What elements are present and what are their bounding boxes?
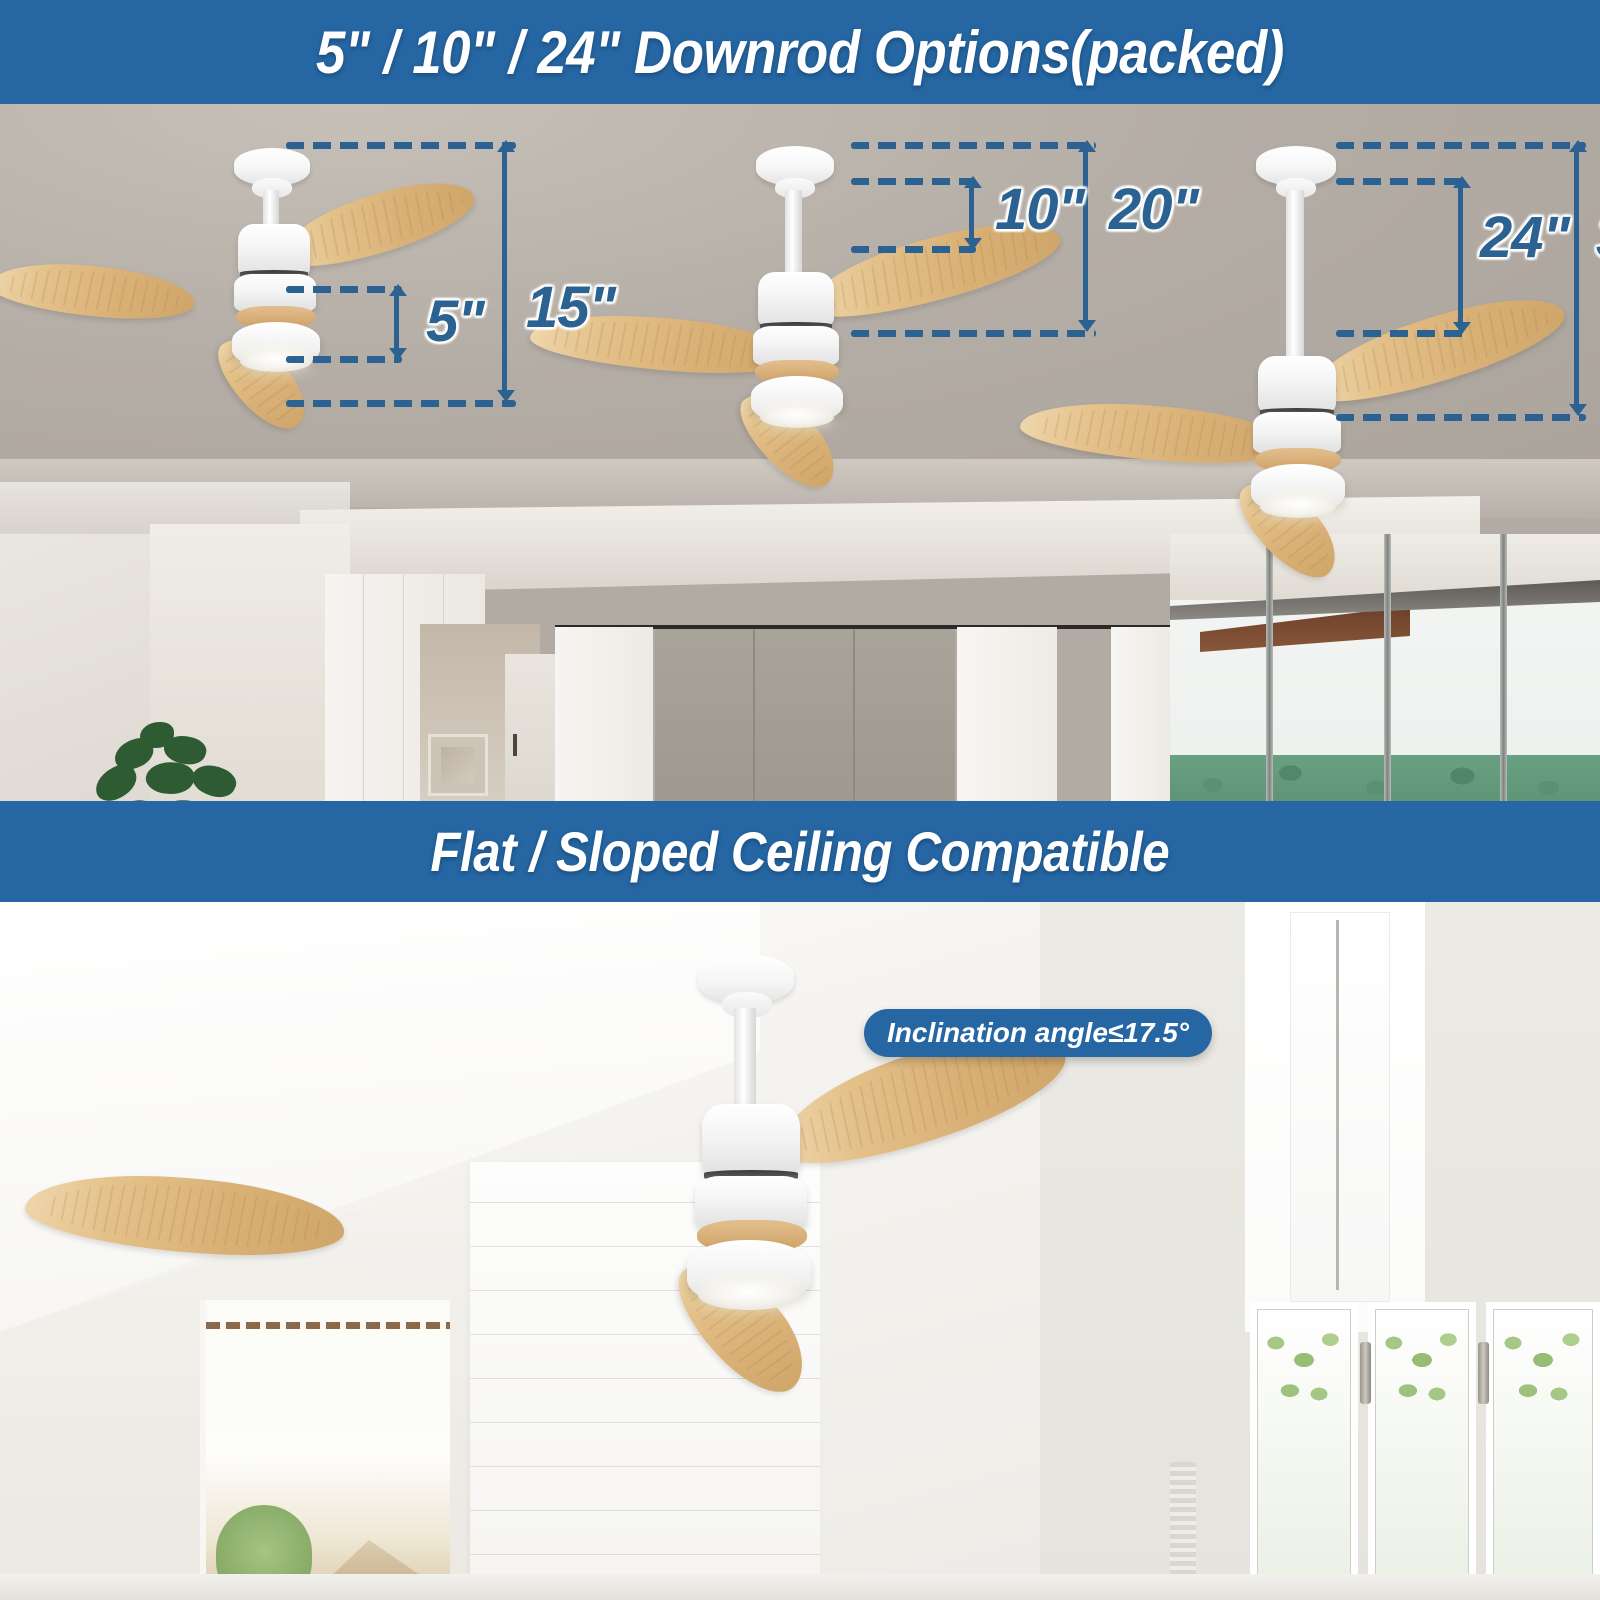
french-doors xyxy=(1250,1302,1600,1600)
dimension-group-24in: 24" 34" xyxy=(1330,134,1590,554)
dormer-window xyxy=(1290,912,1390,1302)
door-handle[interactable] xyxy=(1478,1342,1489,1404)
door-handle[interactable] xyxy=(1360,1342,1371,1404)
dim-label-total-34in: 34" xyxy=(1596,204,1600,271)
fan-motor-housing xyxy=(758,272,834,328)
door-pane[interactable] xyxy=(1368,1302,1476,1600)
dim-label-downrod-24in: 24" xyxy=(1480,204,1569,271)
led-light-lens xyxy=(1260,496,1336,518)
dim-top-guide-5in xyxy=(286,286,402,293)
downrod xyxy=(1286,190,1304,362)
led-light-lens xyxy=(760,406,834,428)
dimension-group-5in: 5" 15" xyxy=(280,134,500,444)
downrod xyxy=(263,190,279,228)
top-banner: 5" / 10" / 24" Downrod Options(packed) xyxy=(0,0,1600,104)
dim-line-34in xyxy=(1574,148,1579,412)
cabinet-white-far-right xyxy=(1111,627,1175,801)
dim-line-5in xyxy=(394,292,399,354)
dim-bottom-guide-10in xyxy=(851,246,976,253)
ceiling-fan-main xyxy=(330,932,1070,1332)
dim-top-guide-34in xyxy=(1336,142,1586,149)
downrod xyxy=(785,190,802,278)
dim-top-guide-15in xyxy=(286,142,516,149)
inclination-angle-badge: Inclination angle≤17.5° xyxy=(864,1009,1212,1057)
dim-top-guide-24in xyxy=(1336,178,1466,185)
kitchen-cabinetry xyxy=(555,599,1175,801)
dim-label-total-20in: 20" xyxy=(1109,176,1198,243)
cabinet-upper-gray xyxy=(655,629,955,801)
downrod xyxy=(734,1008,756,1112)
dim-top-guide-10in xyxy=(851,178,976,185)
middle-banner: Flat / Sloped Ceiling Compatible xyxy=(0,801,1600,902)
fan-motor-housing xyxy=(1258,356,1336,414)
fan-motor-housing xyxy=(702,1104,800,1178)
led-light-lens xyxy=(698,1280,800,1310)
dim-bottom-guide-24in xyxy=(1336,330,1466,337)
dim-label-downrod-5in: 5" xyxy=(426,288,484,355)
dormer-mullion xyxy=(1336,920,1339,1290)
framed-picture xyxy=(428,734,488,796)
dim-bottom-guide-34in xyxy=(1336,414,1586,421)
middle-banner-text: Flat / Sloped Ceiling Compatible xyxy=(431,819,1170,884)
dim-line-10in xyxy=(969,184,974,244)
inclination-angle-text: Inclination angle≤17.5° xyxy=(887,1017,1189,1049)
dim-label-total-15in: 15" xyxy=(526,274,615,341)
dim-bottom-guide-15in xyxy=(286,400,516,407)
dim-bottom-guide-5in xyxy=(286,356,402,363)
cabinet-white-left xyxy=(555,627,653,801)
door-pane[interactable] xyxy=(1486,1302,1600,1600)
dim-top-guide-20in xyxy=(851,142,1096,149)
potted-plant xyxy=(88,722,258,801)
dim-bottom-guide-20in xyxy=(851,330,1096,337)
top-banner-text: 5" / 10" / 24" Downrod Options(packed) xyxy=(316,18,1284,87)
wall-vent xyxy=(1170,1462,1196,1577)
dim-line-15in xyxy=(502,148,507,398)
door-pane[interactable] xyxy=(1250,1302,1358,1600)
dim-line-24in xyxy=(1458,184,1463,328)
sloped-ceiling-photo: Inclination angle≤17.5° xyxy=(0,902,1600,1600)
baseboard xyxy=(0,1574,1600,1600)
dimension-group-10in: 10" 20" xyxy=(845,134,1095,474)
left-window xyxy=(200,1300,450,1600)
sliding-glass-doors xyxy=(1170,534,1600,801)
product-feature-image: 5" / 10" / 24" Downrod Options(packed) xyxy=(0,0,1600,1600)
cabinet-white-right xyxy=(957,627,1057,801)
downrod-options-photo: 5" 15" xyxy=(0,104,1600,801)
dim-label-downrod-10in: 10" xyxy=(995,176,1084,243)
